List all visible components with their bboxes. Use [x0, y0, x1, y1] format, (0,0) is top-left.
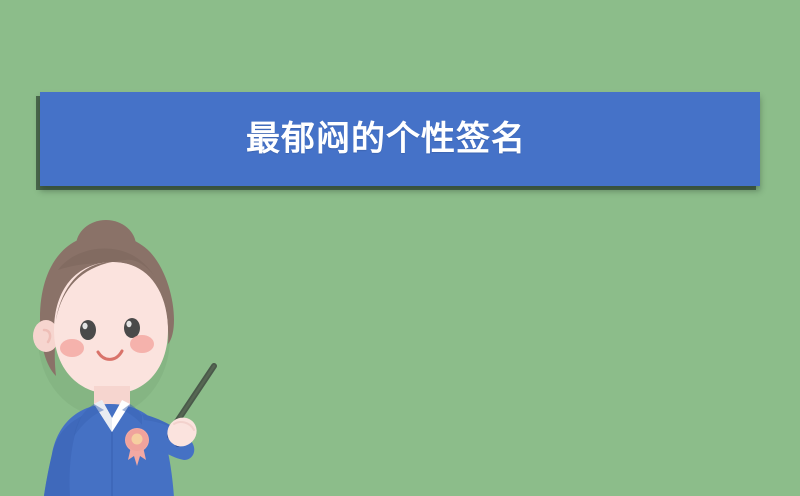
page-title: 最郁闷的个性签名 [246, 122, 526, 156]
left-eye-glint [82, 323, 87, 329]
teacher-illustration [18, 218, 248, 496]
teacher-illustration-svg [18, 218, 248, 496]
right-blush [130, 335, 154, 353]
right-eye-glint [126, 321, 131, 327]
slide-canvas: 最郁闷的个性签名 [0, 0, 800, 496]
left-blush [60, 339, 84, 357]
left-eye [80, 320, 96, 340]
title-banner: 最郁闷的个性签名 [40, 92, 760, 186]
face [54, 262, 168, 394]
badge-center [132, 434, 143, 445]
right-eye [124, 318, 140, 338]
